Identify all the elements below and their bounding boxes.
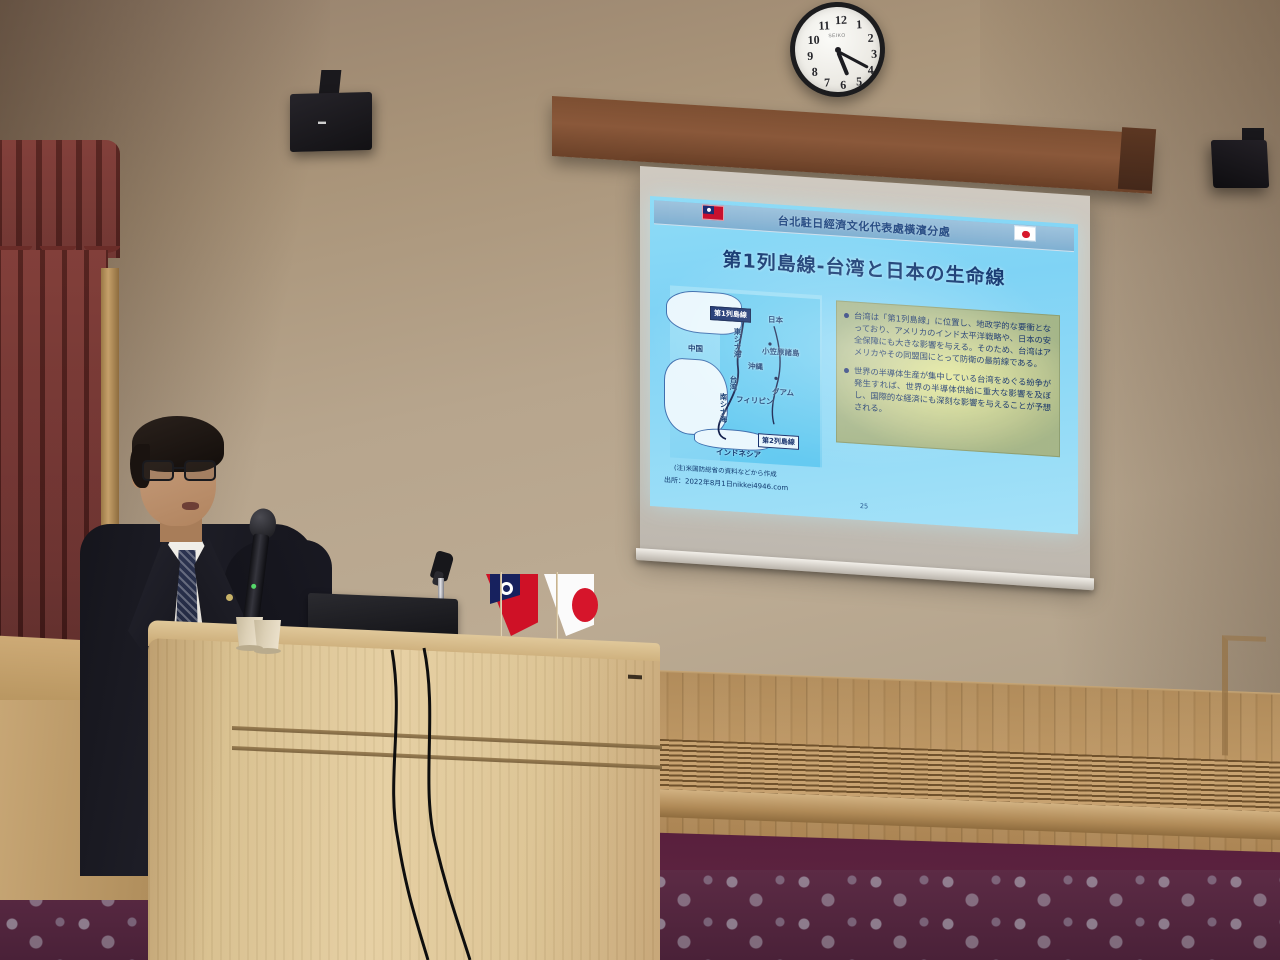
door-frame xyxy=(1222,635,1266,757)
bullet-text: 世界の半導体生産が集中している台湾をめぐる紛争が発生すれば、世界の半導体供給に重… xyxy=(854,365,1051,426)
bullet-dot-icon xyxy=(844,313,849,318)
speaker-logo: ▬ xyxy=(318,117,344,125)
clock-numeral: 2 xyxy=(862,31,879,47)
clock-numeral: 3 xyxy=(866,46,883,62)
slide-header-text: 台北駐日經濟文化代表處橫濱分處 xyxy=(778,212,951,239)
screen-valance-cap xyxy=(1118,127,1156,191)
eyeglass-lens-left xyxy=(142,460,174,481)
paper-cup-rim xyxy=(254,648,281,654)
map-label-east-china-sea: 東シナ海 xyxy=(732,327,743,358)
map-label-okinawa: 沖縄 xyxy=(748,361,763,373)
presenter-lapel-pin xyxy=(226,594,233,601)
ceiling-speaker-left: ▬ xyxy=(290,93,372,151)
map-label-china: 中国 xyxy=(688,343,703,355)
bullet-text: 台湾は「第1列島線」に位置し、地政学的な要衝となっており、アメリカのインド太平洋… xyxy=(854,310,1051,371)
map-label-japan: 日本 xyxy=(768,314,783,326)
presenter-mouth xyxy=(182,502,199,510)
slide-bullet-panel: 台湾は「第1列島線」に位置し、地政学的な要衝となっており、アメリカのインド太平洋… xyxy=(836,300,1060,457)
slide-bullet-item: 台湾は「第1列島線」に位置し、地政学的な要衝となっており、アメリカのインド太平洋… xyxy=(844,309,1051,371)
clock-numeral: 5 xyxy=(851,74,868,90)
clock-numeral: 10 xyxy=(805,33,822,49)
eyeglass-bridge xyxy=(174,467,185,469)
clock-brand: SEIKO xyxy=(828,33,845,40)
speaker-box xyxy=(1211,140,1269,188)
podium xyxy=(148,620,660,960)
map-label-south-china-sea: 南シナ海 xyxy=(718,393,729,424)
clock-numeral: 8 xyxy=(807,65,824,81)
japan-flag-icon xyxy=(1014,225,1036,241)
taiwan-flag-icon xyxy=(702,204,724,220)
island-chain-map: 第1列島線 第2列島線 中国 日本 東シナ海 小笠原諸島 沖縄 台湾 グアム フ… xyxy=(670,285,822,467)
japan-flag-sun-disc-icon xyxy=(572,588,598,622)
lecture-hall-scene: ▬ SEIKO 12 1 2 3 4 5 6 7 8 9 10 11 台北駐日經… xyxy=(0,0,1280,960)
eyeglasses-icon xyxy=(140,460,222,482)
clock-center-pin xyxy=(834,46,840,52)
slide-title: 第1列島線-台湾と日本の生命線 xyxy=(650,240,1078,295)
clock-numeral: 11 xyxy=(816,18,833,34)
clock-numeral: 12 xyxy=(833,13,850,29)
map-label-guam: グアム xyxy=(772,386,794,398)
slide-bullet-item: 世界の半導体生産が集中している台湾をめぐる紛争が発生すれば、世界の半導体供給に重… xyxy=(844,364,1051,426)
clock-numeral: 6 xyxy=(835,78,852,94)
ceiling-speaker-right xyxy=(1212,140,1268,188)
map-chip-first-island-chain: 第1列島線 xyxy=(710,306,751,323)
map-chip-second-island-chain: 第2列島線 xyxy=(758,433,799,450)
eyeglass-lens-right xyxy=(184,460,216,481)
podium-cable-slot xyxy=(628,675,642,680)
clock-numeral: 9 xyxy=(802,49,819,65)
presentation-slide: 台北駐日經濟文化代表處橫濱分處 第1列島線-台湾と日本の生命線 第1列島線 第2… xyxy=(650,196,1078,534)
map-label-taiwan: 台湾 xyxy=(728,375,739,391)
curtain-valance xyxy=(0,140,120,258)
podium-front-panel xyxy=(148,638,660,960)
bullet-dot-icon xyxy=(844,368,849,373)
